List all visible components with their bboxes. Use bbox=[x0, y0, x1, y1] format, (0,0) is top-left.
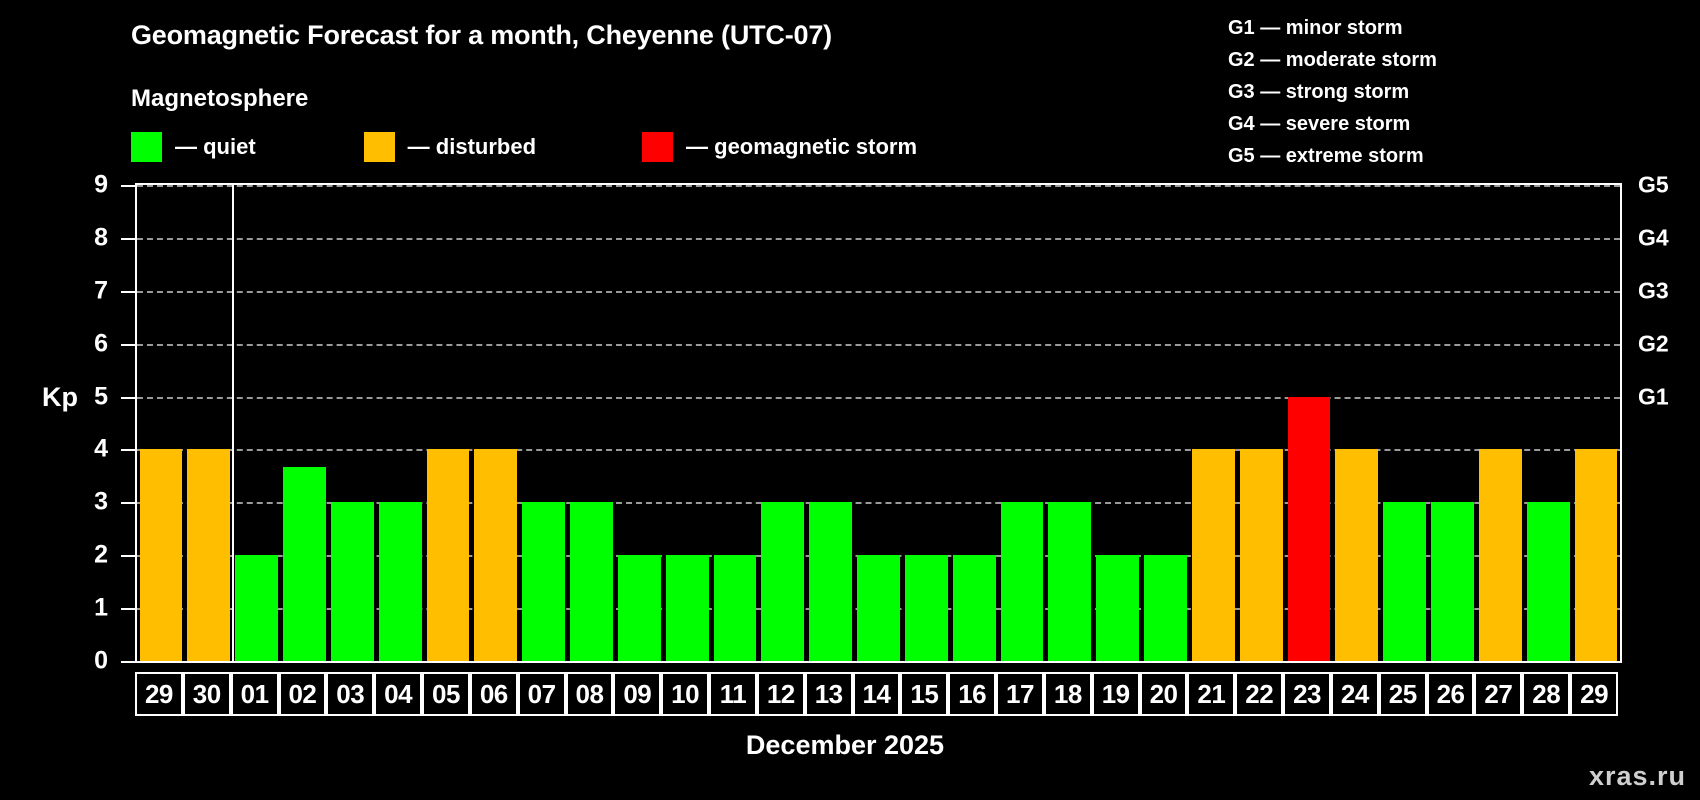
x-axis-day-label: 13 bbox=[805, 672, 853, 716]
kp-bar bbox=[1048, 502, 1091, 661]
y-axis-tick-mark bbox=[121, 608, 135, 610]
g-scale-row: G1 — minor storm bbox=[1228, 12, 1437, 44]
g-scale-row: G2 — moderate storm bbox=[1228, 44, 1437, 76]
kp-bar bbox=[1527, 502, 1570, 661]
kp-bar bbox=[235, 555, 278, 661]
kp-bar bbox=[1144, 555, 1187, 661]
y-axis-tick-label: 1 bbox=[68, 594, 108, 623]
x-axis-day-label: 26 bbox=[1427, 672, 1475, 716]
kp-bar bbox=[140, 449, 183, 661]
x-axis-day-label: 25 bbox=[1379, 672, 1427, 716]
kp-bar bbox=[714, 555, 757, 661]
x-axis-day-label: 01 bbox=[231, 672, 279, 716]
x-axis-day-label: 29 bbox=[1570, 672, 1618, 716]
y-axis-tick-mark bbox=[121, 238, 135, 240]
y-axis-tick-label: 2 bbox=[68, 541, 108, 570]
x-axis-day-label: 17 bbox=[996, 672, 1044, 716]
kp-bar bbox=[1192, 449, 1235, 661]
y-axis-tick-mark bbox=[121, 344, 135, 346]
g-axis-tick-label: G1 bbox=[1638, 383, 1669, 410]
kp-bar bbox=[474, 449, 517, 661]
kp-bar bbox=[1335, 449, 1378, 661]
y-axis-tick-label: 0 bbox=[68, 647, 108, 676]
kp-bar bbox=[1383, 502, 1426, 661]
g-scale-row: G3 — strong storm bbox=[1228, 76, 1437, 108]
legend-label: — geomagnetic storm bbox=[686, 134, 917, 160]
y-axis-tick-mark bbox=[121, 397, 135, 399]
x-axis-day-label: 06 bbox=[470, 672, 518, 716]
x-axis-day-labels: 2930010203040506070809101112131415161718… bbox=[135, 672, 1622, 716]
kp-bar bbox=[522, 502, 565, 661]
kp-bar bbox=[331, 502, 374, 661]
x-axis-day-label: 21 bbox=[1187, 672, 1235, 716]
y-axis-tick-label: 9 bbox=[68, 171, 108, 200]
x-axis-day-label: 11 bbox=[709, 672, 757, 716]
kp-bar bbox=[905, 555, 948, 661]
legend-item: — geomagnetic storm bbox=[642, 132, 917, 162]
y-axis-tick-mark bbox=[121, 555, 135, 557]
g-scale-row: G5 — extreme storm bbox=[1228, 140, 1437, 172]
kp-bar bbox=[1288, 397, 1331, 661]
x-axis-day-label: 02 bbox=[279, 672, 327, 716]
x-axis-title-text: December 2025 bbox=[746, 730, 944, 760]
color-legend: — quiet— disturbed— geomagnetic storm bbox=[131, 132, 917, 162]
x-axis-day-label: 30 bbox=[183, 672, 231, 716]
x-axis-day-label: 03 bbox=[326, 672, 374, 716]
kp-bar bbox=[1431, 502, 1474, 661]
x-axis-day-label: 07 bbox=[518, 672, 566, 716]
kp-bar bbox=[666, 555, 709, 661]
x-axis-day-label: 27 bbox=[1474, 672, 1522, 716]
storm-swatch bbox=[642, 132, 673, 162]
legend-item: — disturbed bbox=[364, 132, 536, 162]
x-axis-day-label: 28 bbox=[1522, 672, 1570, 716]
x-axis-day-label: 05 bbox=[422, 672, 470, 716]
disturbed-swatch bbox=[364, 132, 395, 162]
y-axis-tick-label: 3 bbox=[68, 488, 108, 517]
g-axis-tick-label: G5 bbox=[1638, 172, 1669, 199]
x-axis-day-label: 10 bbox=[661, 672, 709, 716]
g-scale-row: G4 — severe storm bbox=[1228, 108, 1437, 140]
x-axis-day-label: 04 bbox=[374, 672, 422, 716]
y-axis-tick-label: 7 bbox=[68, 276, 108, 305]
kp-bar bbox=[809, 502, 852, 661]
x-axis-day-label: 18 bbox=[1044, 672, 1092, 716]
y-axis-tick-mark bbox=[121, 291, 135, 293]
x-axis-day-label: 24 bbox=[1331, 672, 1379, 716]
x-axis-title: December 2025 bbox=[0, 730, 1700, 761]
y-axis-tick-label: 8 bbox=[68, 223, 108, 252]
kp-bar bbox=[570, 502, 613, 661]
x-axis-day-label: 16 bbox=[948, 672, 996, 716]
legend-item: — quiet bbox=[131, 132, 256, 162]
watermark: xras.ru bbox=[1589, 761, 1686, 792]
bar-series bbox=[137, 185, 1620, 661]
kp-bar bbox=[857, 555, 900, 661]
x-axis-day-label: 12 bbox=[757, 672, 805, 716]
y-axis-tick-label: 5 bbox=[68, 382, 108, 411]
kp-bar bbox=[1575, 449, 1618, 661]
kp-bar bbox=[283, 467, 326, 661]
legend-label: — disturbed bbox=[408, 134, 536, 160]
page-title: Geomagnetic Forecast for a month, Cheyen… bbox=[131, 20, 832, 51]
x-axis-day-label: 29 bbox=[135, 672, 183, 716]
x-axis-day-label: 22 bbox=[1235, 672, 1283, 716]
y-axis-tick-label: 4 bbox=[68, 435, 108, 464]
legend-label: — quiet bbox=[175, 134, 256, 160]
y-axis-tick-mark bbox=[121, 502, 135, 504]
kp-bar bbox=[1240, 449, 1283, 661]
kp-bar bbox=[379, 502, 422, 661]
x-axis-day-label: 23 bbox=[1283, 672, 1331, 716]
x-axis-day-label: 15 bbox=[900, 672, 948, 716]
g-axis-tick-label: G2 bbox=[1638, 330, 1669, 357]
y-axis-tick-label: 6 bbox=[68, 329, 108, 358]
kp-bar bbox=[187, 449, 230, 661]
y-axis-tick-mark bbox=[121, 449, 135, 451]
quiet-swatch bbox=[131, 132, 162, 162]
kp-bar bbox=[761, 502, 804, 661]
x-axis-day-label: 20 bbox=[1140, 672, 1188, 716]
x-axis-day-label: 19 bbox=[1092, 672, 1140, 716]
y-axis-tick-mark bbox=[121, 185, 135, 187]
g-axis-tick-label: G4 bbox=[1638, 224, 1669, 251]
kp-bar bbox=[1479, 449, 1522, 661]
x-axis-day-label: 09 bbox=[613, 672, 661, 716]
x-axis-day-label: 14 bbox=[853, 672, 901, 716]
kp-bar bbox=[618, 555, 661, 661]
kp-bar bbox=[1096, 555, 1139, 661]
chart-subtitle: Magnetosphere bbox=[131, 85, 308, 113]
g-axis-tick-label: G3 bbox=[1638, 277, 1669, 304]
y-axis-tick-mark bbox=[121, 661, 135, 663]
x-axis-day-label: 08 bbox=[566, 672, 614, 716]
kp-bar bbox=[953, 555, 996, 661]
kp-bar bbox=[427, 449, 470, 661]
kp-bar bbox=[1001, 502, 1044, 661]
g-scale-legend: G1 — minor stormG2 — moderate stormG3 — … bbox=[1228, 12, 1437, 172]
geomagnetic-forecast-chart: Geomagnetic Forecast for a month, Cheyen… bbox=[0, 0, 1700, 800]
